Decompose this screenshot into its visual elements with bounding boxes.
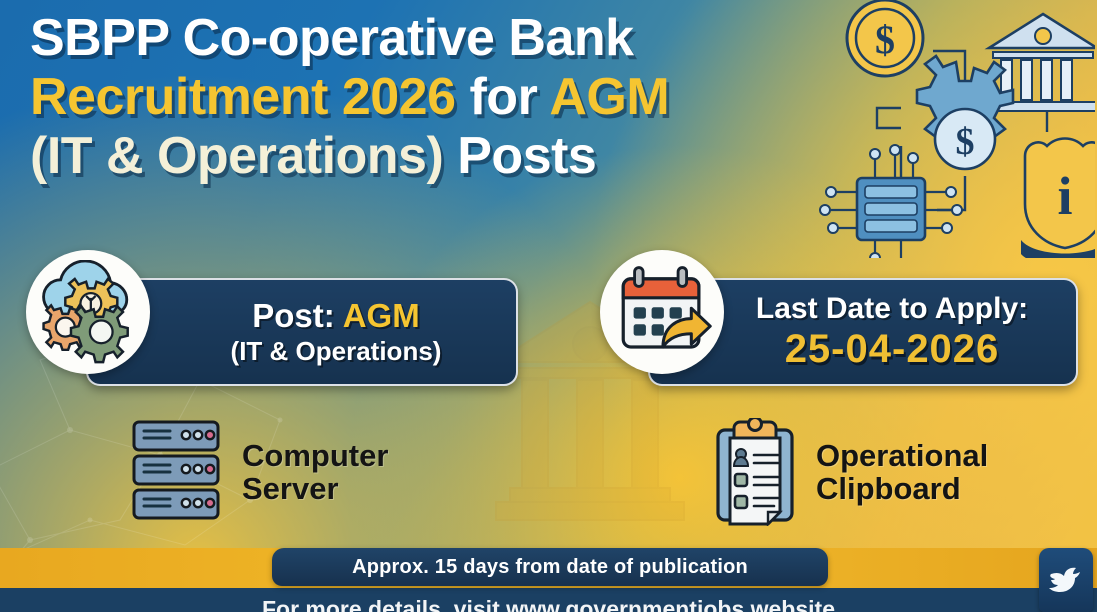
- feature-label-clipboard: Operational Clipboard: [816, 439, 988, 506]
- info-shield-icon: i: [1021, 139, 1095, 259]
- feature-clipboard-line2: Clipboard: [816, 472, 988, 505]
- publication-note-text: Approx. 15 days from date of publication: [352, 556, 748, 579]
- feature-operational-clipboard: Operational Clipboard: [712, 418, 988, 526]
- post-label: Post:: [252, 297, 335, 334]
- poster-headline: SBPP Co-operative Bank Recruitment 2026 …: [30, 12, 860, 183]
- feature-clipboard-line1: Operational: [816, 439, 988, 472]
- post-pill-row-1: Post: AGM: [252, 297, 419, 335]
- headline-for: for: [469, 68, 537, 126]
- svg-text:i: i: [1057, 166, 1072, 226]
- feature-computer-server: Computer Server: [128, 418, 388, 526]
- feature-server-line2: Server: [242, 472, 388, 505]
- server-rack-icon: [128, 418, 224, 526]
- calendar-forward-icon: [600, 250, 724, 374]
- bottom-website-line: For more details, visit www.governmentjo…: [0, 596, 1097, 612]
- clipboard-checklist-icon: [712, 418, 798, 526]
- bird-logo-icon[interactable]: [1039, 548, 1093, 612]
- publication-note-badge: Approx. 15 days from date of publication: [272, 548, 828, 586]
- last-date-value: 25-04-2026: [785, 327, 1000, 372]
- post-pill-row-2: (IT & Operations): [231, 336, 442, 367]
- headline-recruitment-2026: Recruitment 2026: [30, 68, 456, 126]
- headline-agm: AGM: [549, 68, 669, 126]
- gear-dollar-icon: $: [917, 56, 1013, 169]
- feature-label-server: Computer Server: [242, 439, 388, 506]
- headline-line-1: SBPP Co-operative Bank: [30, 12, 860, 65]
- cloud-gears-icon: [26, 250, 150, 374]
- headline-posts: Posts: [457, 127, 596, 185]
- headline-line-2: Recruitment 2026 for AGM: [30, 71, 860, 124]
- bank-building-icon: [989, 14, 1095, 111]
- post-value: AGM: [343, 297, 420, 334]
- svg-text:$: $: [875, 17, 895, 62]
- svg-text:$: $: [956, 121, 975, 163]
- poster-canvas: $ $: [0, 0, 1097, 612]
- headline-it-operations: (IT & Operations): [30, 127, 443, 185]
- headline-line-3: (IT & Operations) Posts: [30, 130, 860, 183]
- feature-server-line1: Computer: [242, 439, 388, 472]
- last-date-label: Last Date to Apply:: [756, 292, 1028, 326]
- post-info-pill[interactable]: Post: AGM (IT & Operations): [86, 278, 518, 386]
